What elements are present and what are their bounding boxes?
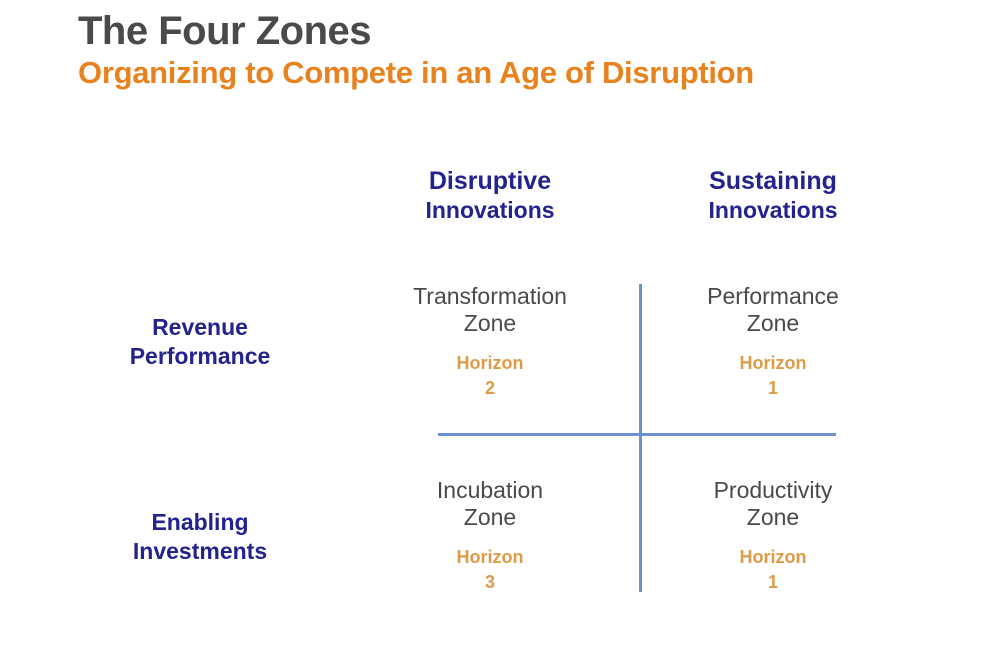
horizon-label-productivity: Horizon xyxy=(653,545,893,570)
quadrant-divider-vertical xyxy=(639,284,642,592)
horizon-badge-transformation: Horizon 2 xyxy=(370,351,610,401)
zone-name-performance-line1: Performance xyxy=(653,283,893,310)
four-zones-slide: The Four Zones Organizing to Compete in … xyxy=(0,0,1000,661)
title-block: The Four Zones Organizing to Compete in … xyxy=(78,10,958,91)
zone-name-productivity: Productivity Zone xyxy=(653,477,893,531)
quadrant-incubation-zone: Incubation Zone Horizon 3 xyxy=(370,477,610,596)
quadrant-divider-horizontal xyxy=(438,433,836,436)
zone-name-productivity-line1: Productivity xyxy=(653,477,893,504)
zone-name-incubation: Incubation Zone xyxy=(370,477,610,531)
row-label-enabling-line2: Investments xyxy=(55,537,345,566)
column-header-sustaining-innovations: Sustaining Innovations xyxy=(660,167,886,224)
column-header-sustaining-line2: Innovations xyxy=(660,197,886,224)
zone-name-performance-line2: Zone xyxy=(653,310,893,337)
zone-name-incubation-line1: Incubation xyxy=(370,477,610,504)
horizon-badge-productivity: Horizon 1 xyxy=(653,545,893,595)
horizon-label-performance: Horizon xyxy=(653,351,893,376)
row-label-enabling-line1: Enabling xyxy=(55,508,345,537)
page-subtitle: Organizing to Compete in an Age of Disru… xyxy=(78,56,958,91)
row-label-revenue-line2: Performance xyxy=(55,342,345,371)
zone-name-productivity-line2: Zone xyxy=(653,504,893,531)
horizon-number-transformation: 2 xyxy=(370,376,610,401)
page-title: The Four Zones xyxy=(78,10,958,53)
zone-name-transformation: Transformation Zone xyxy=(370,283,610,337)
column-header-disruptive-innovations: Disruptive Innovations xyxy=(370,167,610,224)
quadrant-performance-zone: Performance Zone Horizon 1 xyxy=(653,283,893,402)
horizon-number-incubation: 3 xyxy=(370,570,610,595)
horizon-number-performance: 1 xyxy=(653,376,893,401)
horizon-label-incubation: Horizon xyxy=(370,545,610,570)
quadrant-productivity-zone: Productivity Zone Horizon 1 xyxy=(653,477,893,596)
horizon-number-productivity: 1 xyxy=(653,570,893,595)
zone-name-performance: Performance Zone xyxy=(653,283,893,337)
quadrant-transformation-zone: Transformation Zone Horizon 2 xyxy=(370,283,610,402)
row-label-enabling-investments: Enabling Investments xyxy=(55,508,345,565)
column-header-sustaining-line1: Sustaining xyxy=(660,167,886,197)
column-header-disruptive-line2: Innovations xyxy=(370,197,610,224)
row-label-revenue-performance: Revenue Performance xyxy=(55,313,345,370)
column-header-disruptive-line1: Disruptive xyxy=(370,167,610,197)
horizon-label-transformation: Horizon xyxy=(370,351,610,376)
row-label-revenue-line1: Revenue xyxy=(55,313,345,342)
horizon-badge-performance: Horizon 1 xyxy=(653,351,893,401)
horizon-badge-incubation: Horizon 3 xyxy=(370,545,610,595)
zone-name-incubation-line2: Zone xyxy=(370,504,610,531)
zone-name-transformation-line2: Zone xyxy=(370,310,610,337)
zone-name-transformation-line1: Transformation xyxy=(370,283,610,310)
